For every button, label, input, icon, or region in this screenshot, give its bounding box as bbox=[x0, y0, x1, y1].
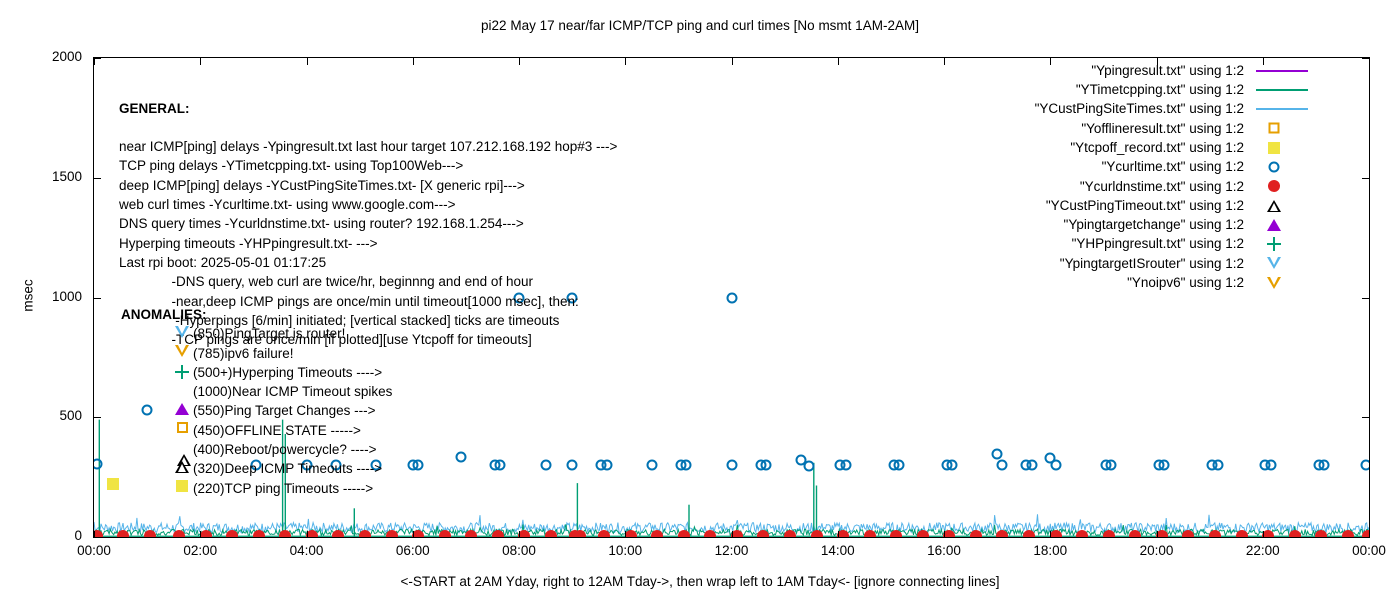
y-tick-mark bbox=[93, 417, 101, 418]
x-tick-mark bbox=[1157, 531, 1158, 538]
x-tick-mark bbox=[838, 531, 839, 538]
general-note-line: Hyperping timeouts -YHPpingresult.txt- -… bbox=[119, 234, 617, 253]
x-tick-label: 06:00 bbox=[373, 543, 453, 558]
legend-label: "Ycurltime.txt" using 1:2 bbox=[1102, 157, 1244, 176]
legend-label: "Ynoipv6" using 1:2 bbox=[1127, 273, 1244, 292]
general-note-line: TCP ping delays -YTimetcpping.txt- using… bbox=[119, 156, 617, 175]
anomaly-row: (550)Ping Target Changes ---> bbox=[121, 401, 392, 420]
anomaly-label: (450)OFFLINE STATE -----> bbox=[193, 421, 361, 440]
plus-icon bbox=[173, 365, 191, 381]
x-tick-label: 00:00 bbox=[54, 543, 134, 558]
x-tick-label: 00:00 bbox=[1329, 543, 1400, 558]
y-tick-label: 500 bbox=[22, 409, 82, 423]
y-tick-mark-right bbox=[1362, 298, 1370, 299]
legend-entry[interactable]: "Ypingtargetchange" using 1:2 bbox=[1035, 214, 1314, 233]
plus-icon bbox=[1250, 234, 1314, 253]
x-axis-caption: <-START at 2AM Yday, right to 12AM Tday-… bbox=[0, 574, 1400, 589]
square-open-icon bbox=[173, 422, 191, 438]
x-tick-label: 22:00 bbox=[1223, 543, 1303, 558]
triangle-down-icon bbox=[1250, 273, 1314, 292]
anomaly-label: (785)ipv6 failure! bbox=[193, 344, 294, 363]
anomaly-row: (850)PingTarget is router! bbox=[121, 324, 392, 343]
y-tick-label: 0 bbox=[22, 529, 82, 543]
anomaly-label: (400)Reboot/powercycle? ----> bbox=[193, 440, 376, 459]
x-tick-label: 02:00 bbox=[160, 543, 240, 558]
anomaly-row: (400)Reboot/powercycle? ----> bbox=[121, 440, 392, 459]
x-tick-mark bbox=[944, 531, 945, 538]
anomaly-label: (220)TCP ping Timeouts -----> bbox=[193, 479, 373, 498]
x-tick-mark-top bbox=[307, 58, 308, 65]
square-filled-icon bbox=[1250, 138, 1314, 157]
anomaly-row: (1000)Near ICMP Timeout spikes bbox=[121, 382, 392, 401]
line-swatch-icon bbox=[1250, 99, 1314, 118]
x-tick-label: 14:00 bbox=[798, 543, 878, 558]
square-filled-icon bbox=[173, 480, 191, 496]
anomaly-row: (220)TCP ping Timeouts -----> bbox=[121, 479, 392, 498]
x-tick-mark bbox=[200, 531, 201, 538]
legend-label: "Ypingtargetchange" using 1:2 bbox=[1064, 215, 1244, 234]
x-tick-label: 12:00 bbox=[692, 543, 772, 558]
circle-filled-icon bbox=[1250, 177, 1314, 196]
legend-entry[interactable]: "YTimetcpping.txt" using 1:2 bbox=[1035, 79, 1314, 98]
anomaly-label: (320)Deep ICMP Timeouts ----> bbox=[193, 459, 382, 478]
x-tick-label: 16:00 bbox=[904, 543, 984, 558]
legend-entry[interactable]: "Yofflineresult.txt" using 1:2 bbox=[1035, 118, 1314, 137]
y-tick-label: 1000 bbox=[22, 290, 82, 304]
anomaly-row: (500+)Hyperping Timeouts ----> bbox=[121, 363, 392, 382]
x-tick-mark-top bbox=[1050, 58, 1051, 65]
x-tick-mark-top bbox=[413, 58, 414, 65]
x-tick-mark-top bbox=[94, 58, 95, 65]
legend-label: "Ycurldnstime.txt" using 1:2 bbox=[1080, 177, 1244, 196]
legend-entry[interactable]: "Ytcpoff_record.txt" using 1:2 bbox=[1035, 137, 1314, 156]
anomaly-row: (320)Deep ICMP Timeouts ----> bbox=[121, 459, 392, 478]
anomaly-label: (550)Ping Target Changes ---> bbox=[193, 401, 375, 420]
x-tick-label: 20:00 bbox=[1117, 543, 1197, 558]
x-tick-mark bbox=[94, 531, 95, 538]
y-tick-mark bbox=[93, 178, 101, 179]
general-note-line: DNS query times -Ycurldnstime.txt- using… bbox=[119, 214, 617, 233]
anomaly-row: (785)ipv6 failure! bbox=[121, 344, 392, 363]
legend-label: "YHPpingresult.txt" using 1:2 bbox=[1072, 234, 1244, 253]
x-tick-mark bbox=[625, 531, 626, 538]
x-tick-mark bbox=[1263, 531, 1264, 538]
y-tick-mark bbox=[93, 298, 101, 299]
anomalies-heading: ANOMALIES: bbox=[121, 305, 392, 324]
x-tick-mark-top bbox=[838, 58, 839, 65]
legend-entry[interactable]: "YCustPingSiteTimes.txt" using 1:2 bbox=[1035, 99, 1314, 118]
triangle-up-filled-icon bbox=[1250, 215, 1314, 234]
x-tick-mark-top bbox=[732, 58, 733, 65]
legend-entry[interactable]: "Ycurldnstime.txt" using 1:2 bbox=[1035, 176, 1314, 195]
y-tick-mark-right bbox=[1362, 178, 1370, 179]
x-tick-mark bbox=[1050, 531, 1051, 538]
anomaly-label: (850)PingTarget is router! bbox=[193, 324, 345, 343]
legend-label: "Ytcpoff_record.txt" using 1:2 bbox=[1070, 138, 1244, 157]
anomaly-label: (1000)Near ICMP Timeout spikes bbox=[193, 382, 392, 401]
legend-label: "Yofflineresult.txt" using 1:2 bbox=[1081, 119, 1244, 138]
x-tick-mark-top bbox=[1263, 58, 1264, 65]
x-tick-label: 08:00 bbox=[479, 543, 559, 558]
y-tick-label: 2000 bbox=[22, 50, 82, 64]
x-tick-mark-top bbox=[1157, 58, 1158, 65]
legend-entry[interactable]: "Ypingresult.txt" using 1:2 bbox=[1035, 60, 1314, 79]
legend: "Ypingresult.txt" using 1:2"YTimetcpping… bbox=[1035, 60, 1314, 292]
x-tick-mark bbox=[732, 531, 733, 538]
x-tick-label: 04:00 bbox=[267, 543, 347, 558]
general-heading: GENERAL: bbox=[119, 99, 617, 118]
circle-open-icon bbox=[1250, 157, 1314, 176]
x-tick-label: 10:00 bbox=[585, 543, 665, 558]
x-tick-mark bbox=[519, 531, 520, 538]
triangle-down-icon bbox=[173, 345, 191, 361]
x-tick-mark-top bbox=[519, 58, 520, 65]
triangle-down-icon bbox=[1250, 254, 1314, 273]
x-tick-label: 18:00 bbox=[1010, 543, 1090, 558]
triangle-down-icon bbox=[173, 326, 191, 342]
general-note-line: deep ICMP[ping] delays -YCustPingSiteTim… bbox=[119, 176, 617, 195]
legend-label: "YpingtargetISrouter" using 1:2 bbox=[1060, 254, 1244, 273]
x-tick-mark-top bbox=[200, 58, 201, 65]
general-note-line: -DNS query, web curl are twice/hr, begin… bbox=[119, 272, 617, 291]
general-note-line: near ICMP[ping] delays -Ypingresult.txt … bbox=[119, 137, 617, 156]
legend-label: "Ypingresult.txt" using 1:2 bbox=[1091, 61, 1244, 80]
legend-label: "YCustPingSiteTimes.txt" using 1:2 bbox=[1035, 99, 1244, 118]
x-tick-mark bbox=[307, 531, 308, 538]
general-note-line: Last rpi boot: 2025-05-01 01:17:25 bbox=[119, 253, 617, 272]
x-tick-mark bbox=[1369, 531, 1370, 538]
x-tick-mark-top bbox=[944, 58, 945, 65]
square-open-icon bbox=[1250, 119, 1314, 138]
line-swatch-icon bbox=[1250, 80, 1314, 99]
triangle-up-filled-icon bbox=[173, 403, 191, 419]
x-tick-mark bbox=[413, 531, 414, 538]
y-tick-mark-right bbox=[1362, 417, 1370, 418]
line-swatch-icon bbox=[1250, 61, 1314, 80]
legend-label: "YCustPingTimeout.txt" using 1:2 bbox=[1046, 196, 1244, 215]
x-tick-mark-top bbox=[1369, 58, 1370, 65]
x-tick-mark-top bbox=[625, 58, 626, 65]
legend-entry[interactable]: "YCustPingTimeout.txt" using 1:2 bbox=[1035, 195, 1314, 214]
y-tick-label: 1500 bbox=[22, 170, 82, 184]
triangle-up-open-icon bbox=[1250, 196, 1314, 215]
legend-entry[interactable]: "YHPpingresult.txt" using 1:2 bbox=[1035, 234, 1314, 253]
anomalies-notes: ANOMALIES: (850)PingTarget is router!(78… bbox=[121, 305, 392, 498]
legend-entry[interactable]: "Ycurltime.txt" using 1:2 bbox=[1035, 156, 1314, 175]
anomaly-label: (500+)Hyperping Timeouts ----> bbox=[193, 363, 382, 382]
legend-entry[interactable]: "YpingtargetISrouter" using 1:2 bbox=[1035, 253, 1314, 272]
general-note-line: web curl times -Ycurltime.txt- using www… bbox=[119, 195, 617, 214]
anomaly-row: (450)OFFLINE STATE -----> bbox=[121, 421, 392, 440]
legend-entry[interactable]: "Ynoipv6" using 1:2 bbox=[1035, 272, 1314, 291]
legend-label: "YTimetcpping.txt" using 1:2 bbox=[1076, 80, 1244, 99]
page-title: pi22 May 17 near/far ICMP/TCP ping and c… bbox=[0, 18, 1400, 33]
triangle-up-open-icon bbox=[173, 461, 191, 477]
